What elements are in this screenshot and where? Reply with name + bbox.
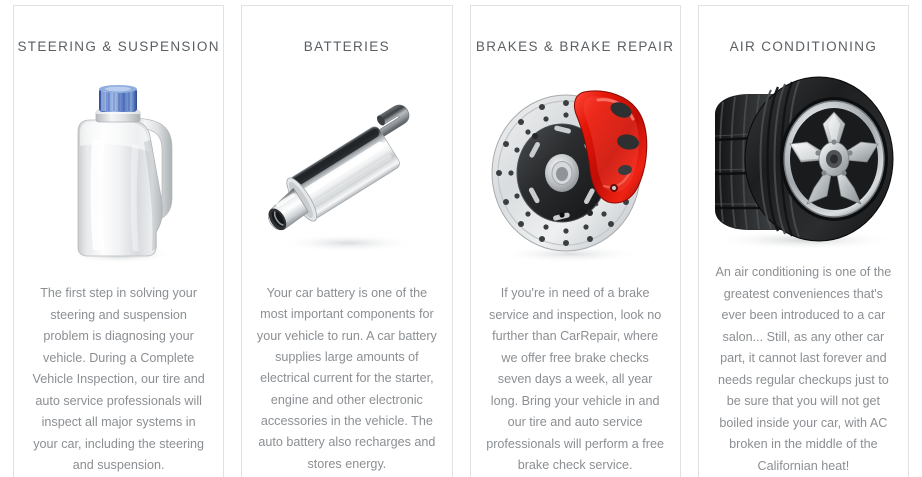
chrome-muffler-image (242, 61, 451, 279)
service-card-batteries[interactable]: BATTERIES (241, 5, 452, 477)
coolant-jug-image (14, 61, 223, 279)
brake-rotor-image (471, 61, 680, 279)
services-card-row: STEERING & SUSPENSION (0, 0, 922, 477)
service-card-steering-suspension[interactable]: STEERING & SUSPENSION (13, 5, 224, 477)
card-title: STEERING & SUSPENSION (13, 6, 224, 55)
card-body-text: An air conditioning is one of the greate… (699, 262, 908, 477)
card-title: AIR CONDITIONING (722, 6, 886, 55)
tires-wheel-image (699, 61, 908, 258)
card-title: BRAKES & BRAKE REPAIR (470, 6, 681, 55)
card-body-text: If you're in need of a brake service and… (471, 283, 680, 477)
service-card-air-conditioning[interactable]: AIR CONDITIONING (698, 5, 909, 477)
card-title: BATTERIES (296, 6, 398, 55)
card-body-text: Your car battery is one of the most impo… (242, 283, 451, 475)
card-body-text: The first step in solving your steering … (14, 283, 223, 477)
service-card-brakes[interactable]: BRAKES & BRAKE REPAIR (470, 5, 681, 477)
